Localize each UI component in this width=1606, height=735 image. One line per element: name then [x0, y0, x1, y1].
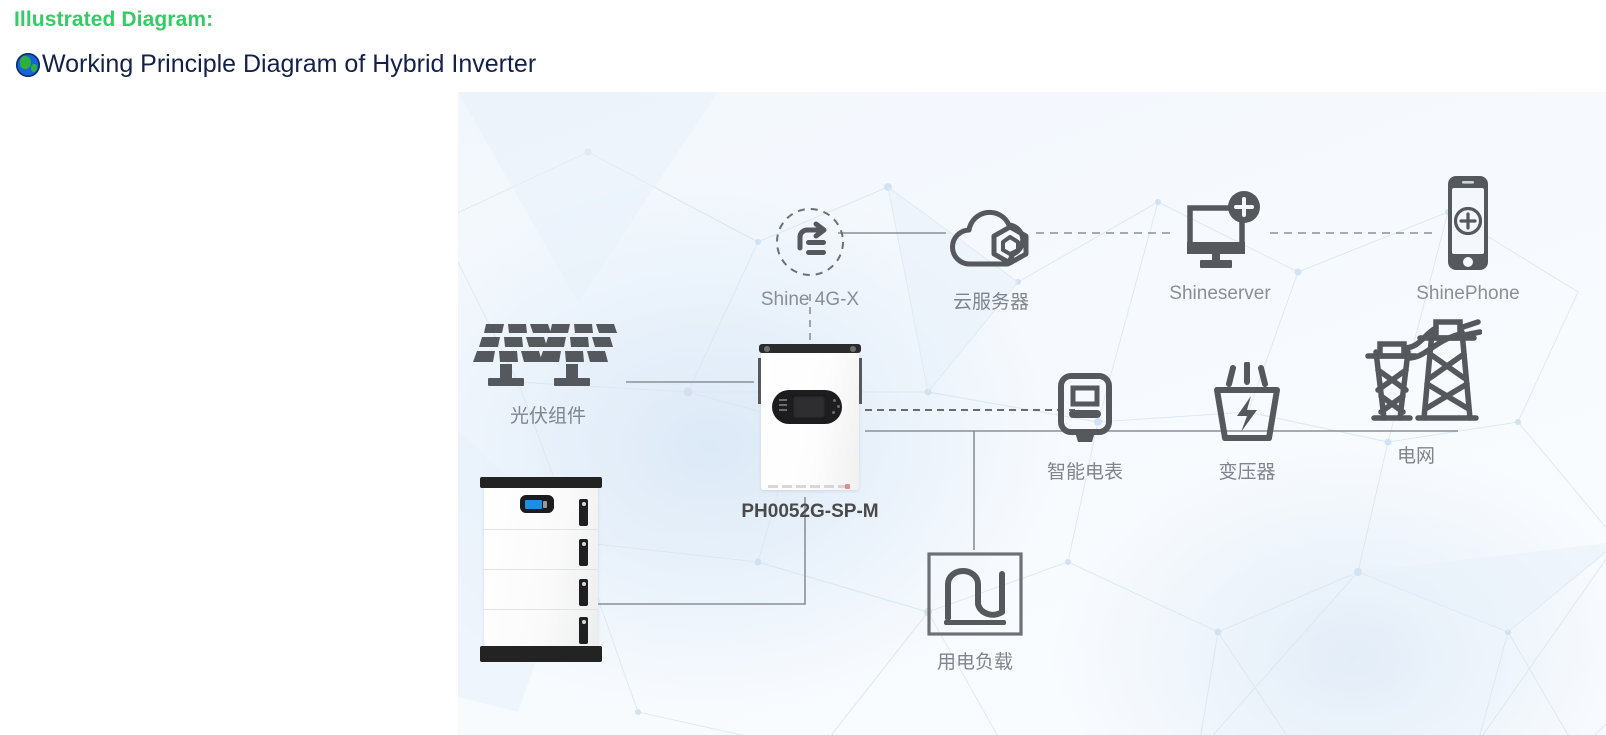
node-label-shineserver: Shineserver [1169, 283, 1270, 305]
node-pv-modules[interactable]: 光伏组件 [468, 320, 628, 428]
diagram-canvas: Shine 4G-X 云服务器 [458, 92, 1606, 735]
node-smart-meter[interactable]: 智能电表 [1030, 372, 1140, 484]
node-shinephone[interactable]: ShinePhone [1408, 172, 1528, 305]
page-root: Illustrated Diagram: Working Principle D… [0, 0, 1606, 735]
node-label-transformer: 变压器 [1218, 457, 1275, 484]
node-cloud-server[interactable]: 云服务器 [936, 204, 1046, 314]
monitor-plus-icon [1172, 188, 1268, 274]
node-label-cloud-server: 云服务器 [953, 287, 1029, 314]
page-title: Illustrated Diagram: [14, 8, 213, 32]
subtitle-row: Working Principle Diagram of Hybrid Inve… [16, 52, 536, 77]
subtitle-text: Working Principle Diagram of Hybrid Inve… [42, 52, 536, 77]
node-label-power-grid: 电网 [1397, 441, 1435, 468]
node-label-shine-4g-x: Shine 4G-X [761, 289, 859, 311]
smartphone-plus-icon [1438, 172, 1498, 274]
node-label-pv-modules: 光伏组件 [510, 401, 586, 428]
smart-meter-icon [1049, 372, 1121, 448]
solar-panel-icon [472, 320, 624, 392]
node-shineserver[interactable]: Shineserver [1160, 188, 1280, 305]
node-label-hybrid-inverter: PH0052G-SP-M [741, 501, 878, 523]
battery-stack-icon [480, 477, 602, 662]
datalogger-icon [772, 204, 848, 280]
node-shine-4g-x[interactable]: Shine 4G-X [750, 204, 870, 311]
node-electrical-load[interactable]: 用电负载 [920, 550, 1030, 674]
node-power-grid[interactable]: 电网 [1346, 314, 1486, 468]
hybrid-inverter-icon [758, 344, 862, 492]
square-wave-load-icon [924, 550, 1026, 638]
transformer-icon [1207, 362, 1287, 448]
node-transformer[interactable]: 变压器 [1192, 362, 1302, 484]
node-label-shinephone: ShinePhone [1416, 283, 1520, 305]
cloud-server-icon [948, 204, 1034, 278]
node-battery-stack[interactable] [480, 477, 602, 671]
node-hybrid-inverter[interactable]: PH0052G-SP-M [758, 344, 862, 523]
globe-icon [16, 53, 40, 77]
pylon-icon [1350, 314, 1482, 432]
node-label-electrical-load: 用电负载 [937, 647, 1013, 674]
node-label-smart-meter: 智能电表 [1047, 457, 1123, 484]
